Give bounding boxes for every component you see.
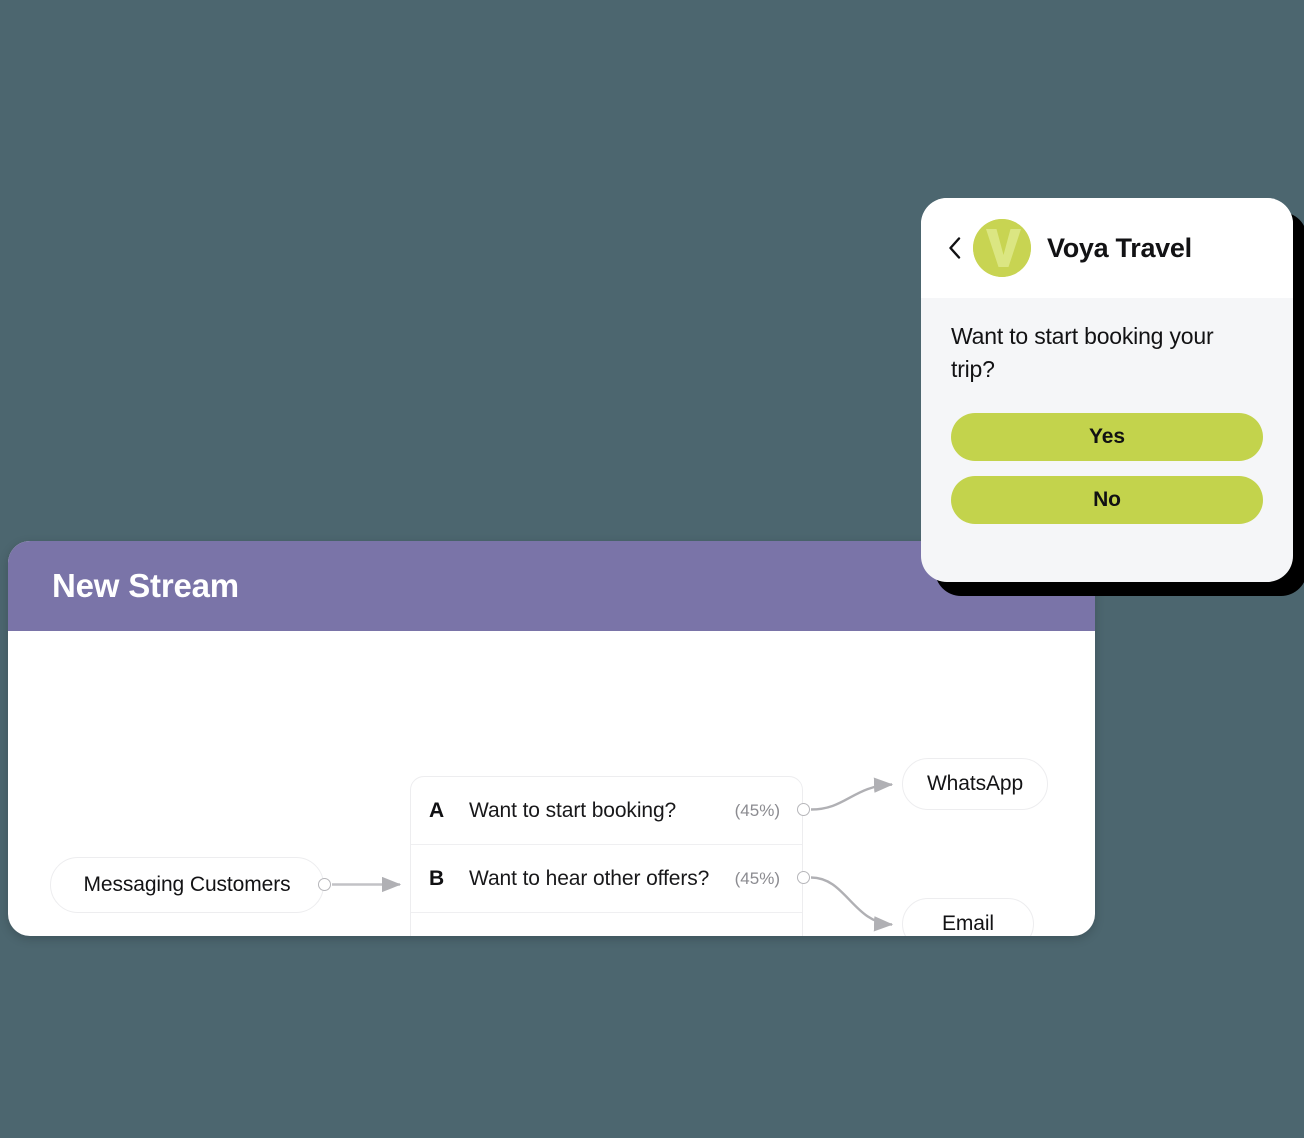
connector-dot-variant-a[interactable] <box>797 803 810 816</box>
chat-preview-body: Want to start booking your trip? Yes No <box>921 298 1293 524</box>
variant-key: A <box>411 799 469 823</box>
page-title: New Stream <box>52 567 239 605</box>
flow-node-whatsapp[interactable]: WhatsApp <box>902 758 1048 810</box>
variant-percent: (45%) <box>735 801 802 821</box>
variant-label: Control <box>469 935 735 936</box>
table-row[interactable]: B Want to hear other offers? (45%) <box>411 845 802 913</box>
variant-percent: (45%) <box>735 869 802 889</box>
variant-key: B <box>411 867 469 891</box>
variant-key: / <box>411 935 469 936</box>
reply-button-no[interactable]: No <box>951 476 1263 524</box>
chevron-left-icon[interactable] <box>943 234 965 262</box>
brand-name: Voya Travel <box>1047 233 1192 264</box>
reply-button-yes[interactable]: Yes <box>951 413 1263 461</box>
flow-node-email[interactable]: Email <box>902 898 1034 936</box>
chat-preview-header: Voya Travel <box>921 198 1293 298</box>
voya-v-logo-icon <box>973 219 1031 277</box>
flow-node-label: Messaging Customers <box>83 873 290 897</box>
table-row[interactable]: A Want to start booking? (45%) <box>411 777 802 845</box>
flow-node-messaging-customers[interactable]: Messaging Customers <box>50 857 324 913</box>
chat-preview-card: Voya Travel Want to start booking your t… <box>921 198 1293 582</box>
edge-variant-b-to-email <box>811 878 892 925</box>
edge-variant-a-to-whatsapp <box>811 785 892 810</box>
avatar <box>973 219 1031 277</box>
connector-dot-variant-b[interactable] <box>797 871 810 884</box>
variant-label: Want to hear other offers? <box>469 867 735 891</box>
flow-diagram: Messaging Customers A Want to start book… <box>8 631 1095 936</box>
new-stream-card: New Stream Messaging Customers <box>8 541 1095 936</box>
flow-node-label: WhatsApp <box>927 772 1023 796</box>
variant-table: A Want to start booking? (45%) B Want to… <box>410 776 803 936</box>
flow-node-label: Email <box>942 912 994 936</box>
connector-dot-source[interactable] <box>318 878 331 891</box>
canvas-stage: New Stream Messaging Customers <box>0 0 1304 1138</box>
variant-label: Want to start booking? <box>469 799 735 823</box>
chat-message-text: Want to start booking your trip? <box>951 320 1263 387</box>
table-row[interactable]: / Control (10%) <box>411 913 802 936</box>
